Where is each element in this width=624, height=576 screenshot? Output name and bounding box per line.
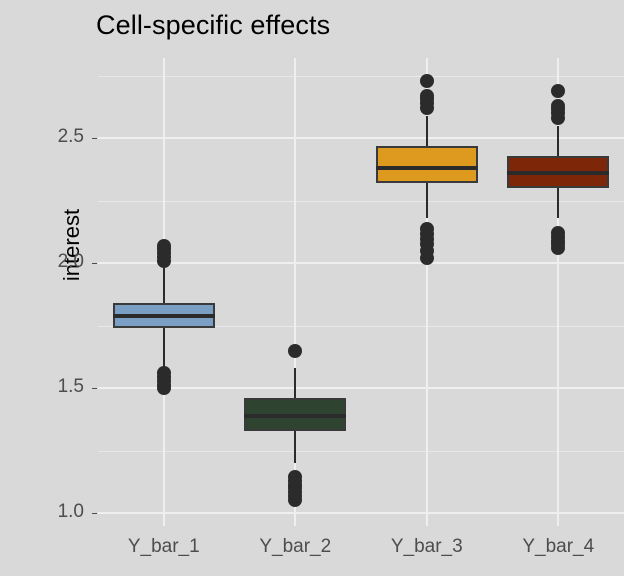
box-iqr[interactable] [376,146,478,184]
median-line [244,414,346,418]
y-tick-mark [92,388,97,389]
median-line [507,171,609,175]
plot-panel [98,58,624,526]
y-tick-label: 1.0 [28,501,84,523]
outlier-point [551,99,565,113]
outlier-point [420,74,434,88]
y-tick-label: 2.0 [28,251,84,273]
x-tick-label: Y_bar_3 [357,536,497,558]
y-tick-mark [92,513,97,514]
boxplot-group[interactable] [98,58,230,526]
whisker-lower [163,328,165,368]
y-tick-label: 1.5 [28,376,84,398]
x-tick-label: Y_bar_4 [488,536,624,558]
whisker-lower [294,431,296,464]
whisker-lower [426,183,428,218]
y-tick-mark [92,138,97,139]
outlier-point [551,84,565,98]
boxplot-group[interactable] [493,58,624,526]
whisker-lower [557,188,559,218]
median-line [376,166,478,170]
y-axis-title: interest [59,175,85,315]
y-tick-label: 2.5 [28,126,84,148]
x-tick-label: Y_bar_1 [94,536,234,558]
outlier-point [157,239,171,253]
whisker-upper [557,126,559,156]
boxplot-group[interactable] [361,58,493,526]
whisker-upper [294,368,296,398]
boxplot-group[interactable] [230,58,362,526]
y-tick-mark [92,263,97,264]
whisker-upper [426,116,428,146]
outlier-point [420,89,434,103]
chart-title: Cell-specific effects [96,10,330,41]
outlier-point [288,344,302,358]
boxplot-chart: Cell-specific effects interest 1.01.52.0… [0,0,624,576]
outlier-point [157,366,171,380]
x-tick-label: Y_bar_2 [225,536,365,558]
whisker-upper [163,268,165,303]
median-line [113,314,215,318]
